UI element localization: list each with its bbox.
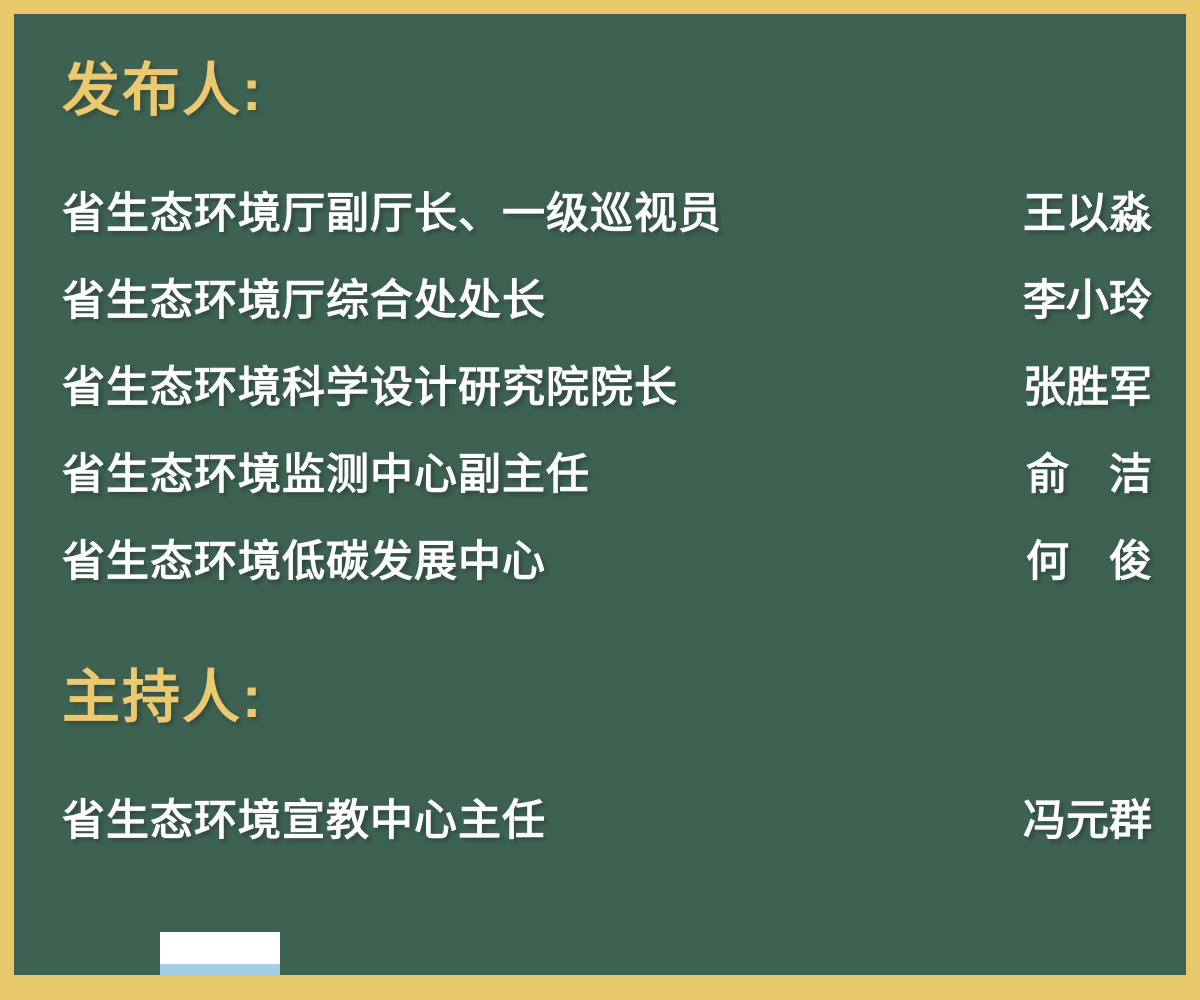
presentation-slide: 发布人: 省生态环境厅副厅长、一级巡视员 王以淼 省生态环境厅综合处处长 李小玲… — [0, 0, 1200, 1000]
person-name: 李小玲 — [992, 279, 1152, 324]
roster-row: 省生态环境低碳发展中心 何 俊 — [62, 540, 1152, 627]
white-blue-marker-icon — [160, 932, 280, 975]
role-title: 省生态环境监测中心副主任 — [62, 453, 590, 498]
roster-row: 省生态环境监测中心副主任 俞 洁 — [62, 453, 1152, 540]
publishers-section-heading: 发布人: — [62, 62, 263, 120]
roster-row: 省生态环境厅综合处处长 李小玲 — [62, 279, 1152, 366]
publishers-roster: 省生态环境厅副厅长、一级巡视员 王以淼 省生态环境厅综合处处长 李小玲 省生态环… — [62, 192, 1152, 627]
roster-row: 省生态环境科学设计研究院院长 张胜军 — [62, 366, 1152, 453]
person-name: 冯元群 — [992, 799, 1152, 844]
roster-row: 省生态环境宣教中心主任 冯元群 — [62, 799, 1152, 844]
host-roster: 省生态环境宣教中心主任 冯元群 — [62, 799, 1152, 844]
slide-board: 发布人: 省生态环境厅副厅长、一级巡视员 王以淼 省生态环境厅综合处处长 李小玲… — [14, 14, 1186, 975]
host-section-heading: 主持人: — [62, 669, 263, 727]
person-name: 王以淼 — [992, 192, 1152, 237]
role-title: 省生态环境低碳发展中心 — [62, 540, 546, 585]
person-name: 俞 洁 — [992, 453, 1152, 498]
person-name: 张胜军 — [992, 366, 1152, 411]
roster-row: 省生态环境厅副厅长、一级巡视员 王以淼 — [62, 192, 1152, 279]
person-name: 何 俊 — [992, 540, 1152, 585]
role-title: 省生态环境厅副厅长、一级巡视员 — [62, 192, 722, 237]
role-title: 省生态环境厅综合处处长 — [62, 279, 546, 324]
role-title: 省生态环境科学设计研究院院长 — [62, 366, 678, 411]
role-title: 省生态环境宣教中心主任 — [62, 799, 546, 844]
